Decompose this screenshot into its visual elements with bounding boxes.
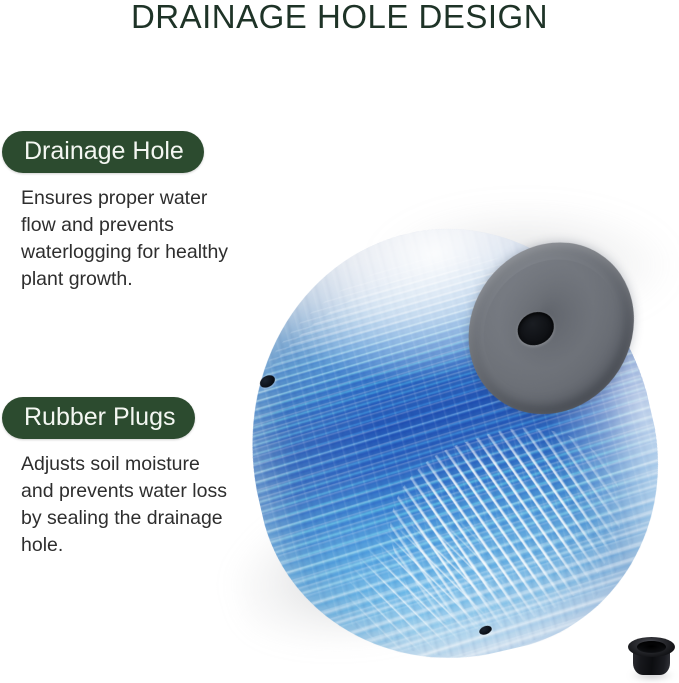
callout-drainage-hole-body: Ensures proper water flow and prevents w… [21, 185, 233, 293]
badge-drainage-hole: Drainage Hole [2, 131, 204, 173]
product-image [225, 215, 679, 683]
page-title: DRAINAGE HOLE DESIGN [0, 0, 679, 36]
callout-drainage-hole: Drainage Hole Ensures proper water flow … [0, 131, 233, 293]
callout-rubber-plugs: Rubber Plugs Adjusts soil moisture and p… [0, 397, 233, 559]
callout-rubber-plugs-body: Adjusts soil moisture and prevents water… [21, 451, 233, 559]
badge-rubber-plugs: Rubber Plugs [2, 397, 195, 439]
infographic-page: DRAINAGE HOLE DESIGN Drainage Hole Ensur… [0, 0, 679, 683]
rubber-plug-bore [637, 641, 666, 653]
rubber-plug [628, 635, 675, 679]
